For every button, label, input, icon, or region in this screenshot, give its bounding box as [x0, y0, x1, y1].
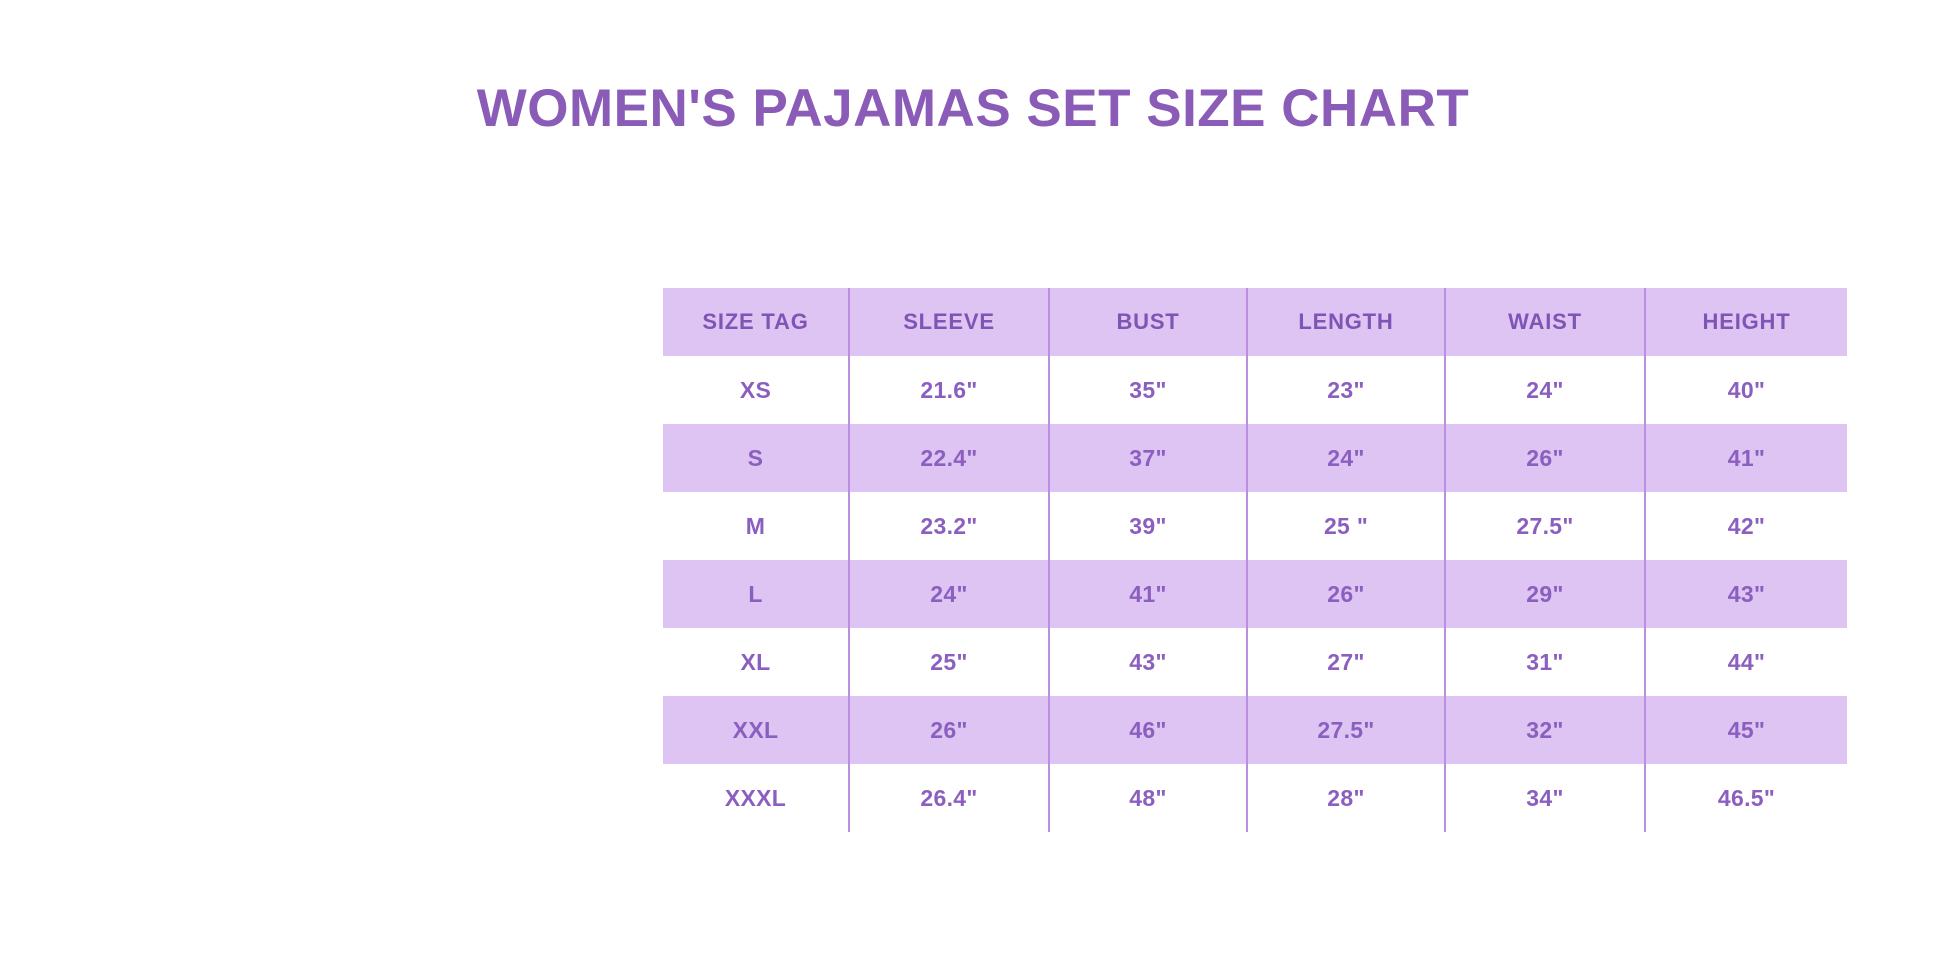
cell-waist: 29"	[1445, 560, 1645, 628]
cell-bust: 37"	[1049, 424, 1247, 492]
cell-size-tag: M	[663, 492, 849, 560]
table-row: M 23.2" 39" 25 " 27.5" 42"	[663, 492, 1847, 560]
cell-size-tag: XXXL	[663, 764, 849, 832]
cell-length: 27.5"	[1247, 696, 1445, 764]
cell-waist: 32"	[1445, 696, 1645, 764]
cell-waist: 26"	[1445, 424, 1645, 492]
cell-bust: 35"	[1049, 356, 1247, 424]
column-header-bust: BUST	[1049, 288, 1247, 356]
cell-sleeve: 26"	[849, 696, 1049, 764]
size-chart-table-container: SIZE TAG SLEEVE BUST LENGTH WAIST HEIGHT…	[663, 288, 1847, 832]
cell-height: 40"	[1645, 356, 1847, 424]
cell-height: 45"	[1645, 696, 1847, 764]
cell-waist: 27.5"	[1445, 492, 1645, 560]
cell-sleeve: 22.4"	[849, 424, 1049, 492]
cell-length: 25 "	[1247, 492, 1445, 560]
cell-length: 24"	[1247, 424, 1445, 492]
cell-bust: 39"	[1049, 492, 1247, 560]
cell-length: 28"	[1247, 764, 1445, 832]
cell-bust: 46"	[1049, 696, 1247, 764]
cell-sleeve: 23.2"	[849, 492, 1049, 560]
cell-size-tag: XL	[663, 628, 849, 696]
column-header-height: HEIGHT	[1645, 288, 1847, 356]
table-row: L 24" 41" 26" 29" 43"	[663, 560, 1847, 628]
table-body: XS 21.6" 35" 23" 24" 40" S 22.4" 37" 24"…	[663, 356, 1847, 832]
cell-bust: 41"	[1049, 560, 1247, 628]
table-row: XXXL 26.4" 48" 28" 34" 46.5"	[663, 764, 1847, 832]
cell-height: 42"	[1645, 492, 1847, 560]
page-title: WOMEN'S PAJAMAS SET SIZE CHART	[0, 78, 1946, 140]
cell-height: 44"	[1645, 628, 1847, 696]
table-header-row: SIZE TAG SLEEVE BUST LENGTH WAIST HEIGHT	[663, 288, 1847, 356]
cell-sleeve: 24"	[849, 560, 1049, 628]
column-header-waist: WAIST	[1445, 288, 1645, 356]
cell-waist: 34"	[1445, 764, 1645, 832]
table-row: XXL 26" 46" 27.5" 32" 45"	[663, 696, 1847, 764]
cell-waist: 24"	[1445, 356, 1645, 424]
cell-bust: 43"	[1049, 628, 1247, 696]
cell-height: 46.5"	[1645, 764, 1847, 832]
cell-sleeve: 25"	[849, 628, 1049, 696]
table-row: S 22.4" 37" 24" 26" 41"	[663, 424, 1847, 492]
cell-height: 41"	[1645, 424, 1847, 492]
cell-size-tag: L	[663, 560, 849, 628]
table-row: XL 25" 43" 27" 31" 44"	[663, 628, 1847, 696]
cell-sleeve: 21.6"	[849, 356, 1049, 424]
cell-waist: 31"	[1445, 628, 1645, 696]
cell-height: 43"	[1645, 560, 1847, 628]
cell-size-tag: S	[663, 424, 849, 492]
cell-length: 23"	[1247, 356, 1445, 424]
size-chart-page: WOMEN'S PAJAMAS SET SIZE CHART SIZE TAG …	[0, 0, 1946, 973]
column-header-sleeve: SLEEVE	[849, 288, 1049, 356]
cell-size-tag: XXL	[663, 696, 849, 764]
cell-sleeve: 26.4"	[849, 764, 1049, 832]
table-row: XS 21.6" 35" 23" 24" 40"	[663, 356, 1847, 424]
table-header: SIZE TAG SLEEVE BUST LENGTH WAIST HEIGHT	[663, 288, 1847, 356]
column-header-size-tag: SIZE TAG	[663, 288, 849, 356]
cell-length: 26"	[1247, 560, 1445, 628]
cell-size-tag: XS	[663, 356, 849, 424]
cell-bust: 48"	[1049, 764, 1247, 832]
size-chart-table: SIZE TAG SLEEVE BUST LENGTH WAIST HEIGHT…	[663, 288, 1847, 832]
column-header-length: LENGTH	[1247, 288, 1445, 356]
cell-length: 27"	[1247, 628, 1445, 696]
